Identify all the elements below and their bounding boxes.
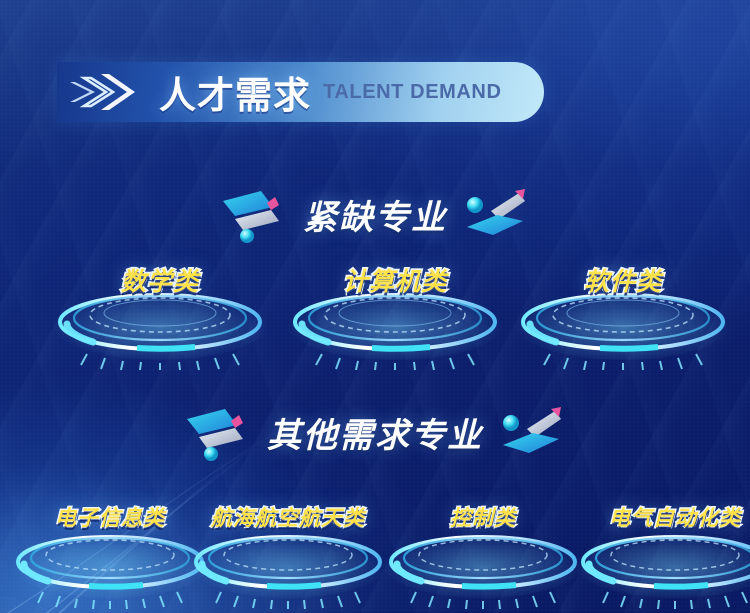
parallelogram-cluster-right-icon	[461, 183, 529, 245]
major-card[interactable]: 电气自动化类	[560, 498, 750, 610]
hud-ring-pedestal-icon	[560, 524, 750, 610]
parallelogram-cluster-left-icon	[221, 183, 289, 245]
section-heading-other-majors: 其他需求专业	[0, 400, 750, 464]
banner-title-cn: 人才需求	[159, 65, 311, 119]
major-label: 数学类	[45, 262, 275, 298]
section-title: 紧缺专业	[303, 190, 447, 239]
major-card[interactable]: 计算机类	[280, 258, 510, 370]
major-card[interactable]: 数学类	[45, 258, 275, 370]
page-header-banner: 人才需求 TALENT DEMAND	[57, 62, 544, 122]
parallelogram-cluster-left-icon	[185, 401, 253, 463]
major-card[interactable]: 软件类	[508, 258, 738, 370]
double-chevron-right-icon	[69, 68, 157, 116]
section-title: 其他需求专业	[267, 408, 483, 457]
parallelogram-cluster-right-icon	[497, 401, 565, 463]
major-label: 计算机类	[280, 262, 510, 298]
infographic-stage: 人才需求 TALENT DEMAND 紧缺专业	[0, 0, 750, 613]
banner-title-en: TALENT DEMAND	[323, 81, 502, 104]
major-label: 电气自动化类	[560, 502, 750, 532]
section-heading-scarce-majors: 紧缺专业	[0, 182, 750, 246]
major-label: 软件类	[508, 262, 738, 298]
